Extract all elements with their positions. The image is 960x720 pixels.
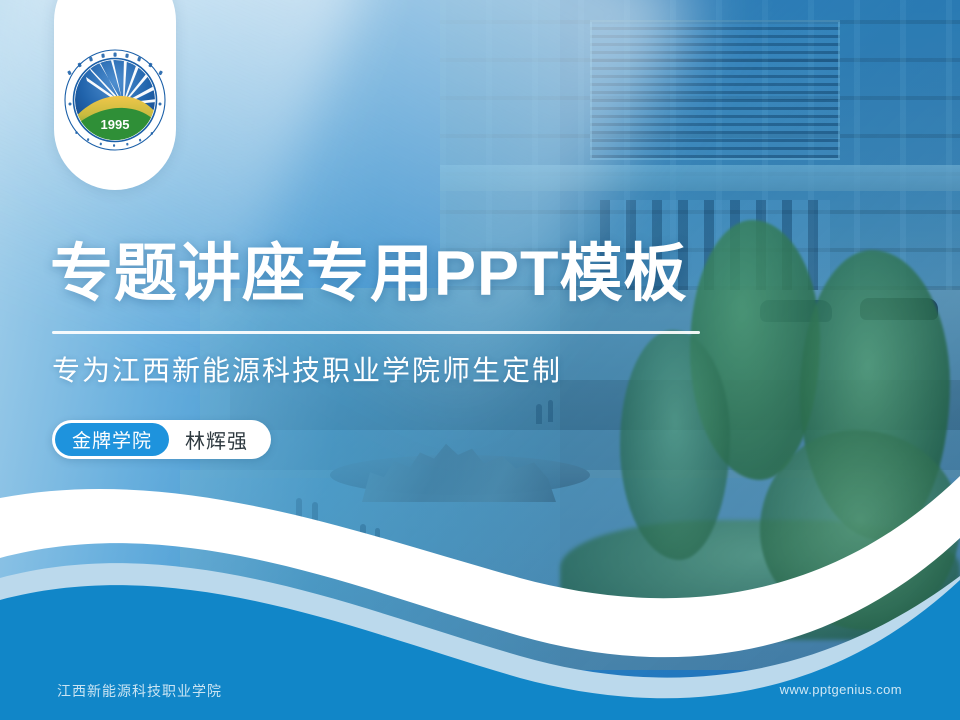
- footer-website[interactable]: www.pptgenius.com: [780, 682, 902, 697]
- title-divider: [52, 331, 700, 334]
- logo-year: 1995: [101, 117, 130, 132]
- presenter-name: 林辉强: [169, 425, 268, 454]
- badge-chip-label: 金牌学院: [55, 423, 169, 456]
- footer-institution: 江西新能源科技职业学院: [57, 681, 222, 701]
- page-title: 专题讲座专用PPT模板: [50, 243, 688, 306]
- presenter-badge: 金牌学院 林辉强: [52, 420, 271, 459]
- college-logo: 1995: [62, 47, 168, 153]
- title-slide: 1995 专题讲座专用PPT模板 专为江西新能源科技职业学院师生定制 金牌学院 …: [0, 0, 960, 720]
- page-subtitle: 专为江西新能源科技职业学院师生定制: [52, 349, 562, 389]
